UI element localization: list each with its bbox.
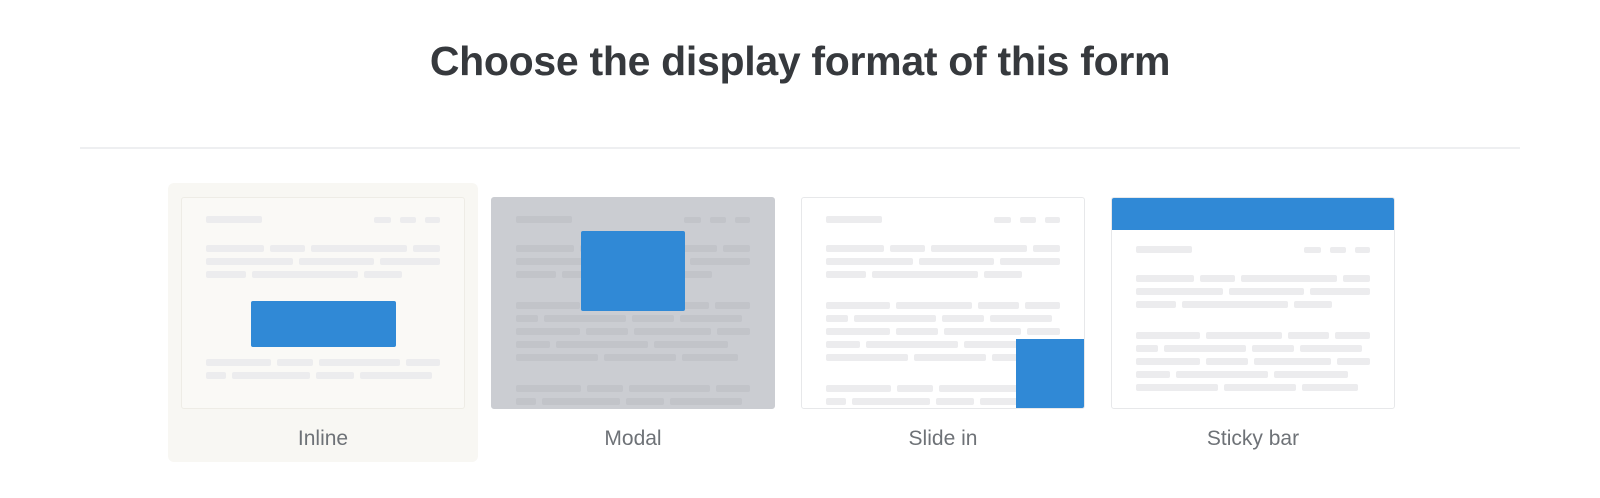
format-option-label: Slide in [801,425,1085,452]
modal-preview [491,197,775,409]
slide-in-preview [801,197,1085,409]
skeleton-logo [516,216,572,223]
skeleton-header [516,216,750,223]
skeleton-header [206,216,440,223]
skeleton-paragraph [1136,275,1370,314]
skeleton-paragraph [516,385,750,409]
sticky-bar-preview [1111,197,1395,409]
skeleton-logo [206,216,262,223]
skeleton-header [826,216,1060,223]
skeleton-logo [826,216,882,223]
format-option-inline[interactable]: Inline [168,183,478,462]
format-option-label: Inline [181,425,465,452]
skeleton-logo [1136,246,1192,253]
inline-form-block [251,301,396,347]
skeleton-paragraph [206,245,440,284]
format-option-slide-in[interactable]: Slide in [788,183,1098,462]
format-option-list: Inline [168,183,1438,458]
skeleton-paragraph [206,359,440,385]
slide-in-form-block [1016,339,1084,408]
skeleton-nav [994,217,1060,223]
format-option-sticky-bar[interactable]: Sticky bar [1098,183,1408,462]
skeleton-paragraph [516,302,750,367]
format-option-modal[interactable]: Modal [478,183,788,462]
skeleton-header [1136,246,1370,253]
skeleton-paragraph [826,245,1060,284]
skeleton-nav [374,217,440,223]
skeleton-nav [1304,247,1370,253]
skeleton-paragraph [1136,332,1370,397]
skeleton-page [1112,198,1394,408]
display-format-chooser: Choose the display format of this form [0,0,1600,498]
inline-preview [181,197,465,409]
modal-form-block [581,231,685,312]
format-option-label: Sticky bar [1111,425,1395,452]
page-title: Choose the display format of this form [0,36,1600,87]
format-option-label: Modal [491,425,775,452]
header-divider [80,147,1520,149]
skeleton-nav [684,217,750,223]
